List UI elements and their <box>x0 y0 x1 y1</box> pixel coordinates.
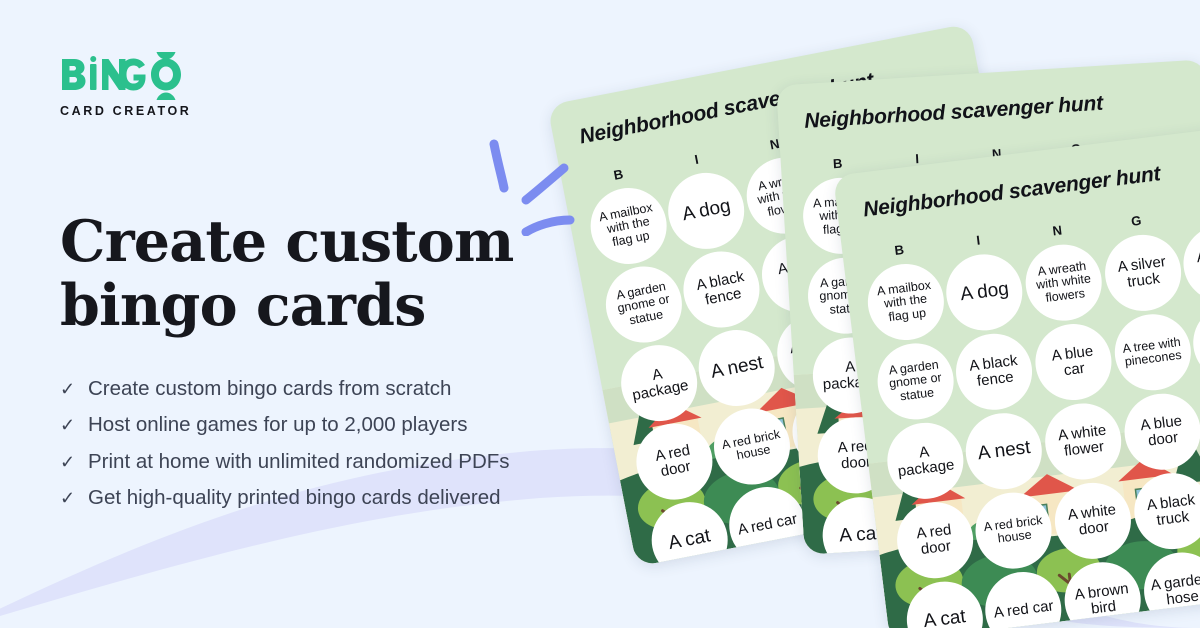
bingo-cell[interactable]: A tree with pinecones <box>1110 310 1195 395</box>
bingo-cell-label: A wreath with white flowers <box>1028 259 1098 307</box>
bingo-cell[interactable]: A red door <box>893 498 978 583</box>
bingo-cell[interactable]: A garden hose <box>1139 548 1200 628</box>
list-item: ✓ Print at home with unlimited randomize… <box>60 444 640 481</box>
bingo-cell-label: A blue car <box>1039 342 1108 382</box>
list-item-label: Get high-quality printed bingo cards del… <box>88 488 501 509</box>
feature-list: ✓ Create custom bingo cards from scratch… <box>60 371 640 517</box>
bingo-cell-label: A brown bird <box>1068 580 1137 620</box>
bingo-cell[interactable]: A cat <box>902 577 987 628</box>
bingo-card-front[interactable]: Neighborhood scavenger hunt BINGOA mailb… <box>833 124 1200 628</box>
bingo-cell-label: A garden hose <box>1147 570 1200 610</box>
column-header-o: O <box>1176 197 1200 226</box>
bingo-cell-label: A red door <box>900 520 969 560</box>
bingo-cell-label: A black fence <box>960 352 1029 392</box>
bingo-cell-label: A red door <box>639 439 710 483</box>
bingo-cell-label: A dog <box>959 279 1010 305</box>
hero-left-column: CARD CREATOR Create custom bingo cards ✓… <box>0 0 640 628</box>
bingo-cell[interactable]: A mailbox with the flag up <box>863 260 948 345</box>
bingo-cell-label: A silver truck <box>1108 253 1177 293</box>
bingo-cell-label: A dog <box>681 196 733 225</box>
bingo-cell-label: A tree with pinecones <box>1118 335 1187 370</box>
check-icon: ✓ <box>60 453 76 471</box>
bingo-cards-stack: Neighborhood scavenger hunt BINGOA mailb… <box>560 0 1200 628</box>
bingo-cell[interactable]: A red car <box>981 568 1066 628</box>
bingo-cell-label: A red brick house <box>980 513 1049 548</box>
list-item-label: Create custom bingo cards from scratch <box>88 379 451 400</box>
bingo-cell[interactable]: A red brick house <box>708 402 797 491</box>
bingo-cell-label: A mailbox with the flag up <box>870 278 940 326</box>
bingo-cell[interactable]: A nest <box>693 323 782 412</box>
bingo-cell[interactable]: A brown bird <box>1060 558 1145 628</box>
bingo-cell-label: A nest <box>977 438 1032 465</box>
bingo-cell-label: A black fence <box>686 267 757 311</box>
bingo-cell-label: A cat <box>667 526 712 554</box>
column-header-n: N <box>1018 216 1097 245</box>
column-header-b: B <box>860 236 939 265</box>
bingo-cell-label: A package <box>890 441 959 481</box>
card-title: Neighborhood scavenger hunt <box>804 86 1195 134</box>
bingo-cell[interactable]: A black truck <box>1130 469 1200 554</box>
bingo-cell[interactable]: A package <box>883 418 968 503</box>
bingo-cell-label: A red brick house <box>717 427 787 466</box>
list-item-label: Print at home with unlimited randomized … <box>88 452 510 473</box>
bingo-cell[interactable]: A silver truck <box>1100 231 1185 316</box>
bingo-cell-label: A white car <box>1187 243 1200 283</box>
check-icon: ✓ <box>60 489 76 507</box>
check-icon: ✓ <box>60 380 76 398</box>
sparkle-icon <box>478 136 598 236</box>
bingo-cell[interactable]: A red door <box>630 417 719 506</box>
bingo-cell[interactable]: A garden gnome or statue <box>873 339 958 424</box>
bingo-cell-label: A cat <box>922 607 966 628</box>
list-item: ✓ Host online games for up to 2,000 play… <box>60 407 640 444</box>
bingo-cell[interactable]: A white car <box>1179 221 1200 306</box>
column-header-i: I <box>939 226 1018 255</box>
bingo-cell-label: A red car <box>993 598 1055 621</box>
headline-line-2: bingo cards <box>60 274 580 338</box>
bingo-cell[interactable]: A flag <box>1189 300 1200 385</box>
logo-wordmark-bingo <box>60 52 190 100</box>
bingo-card: Neighborhood scavenger hunt BINGOA mailb… <box>833 124 1200 628</box>
bingo-cell[interactable]: A wreath with white flowers <box>1021 240 1106 325</box>
check-icon: ✓ <box>60 416 76 434</box>
list-item: ✓ Get high-quality printed bingo cards d… <box>60 480 640 517</box>
bingo-cell[interactable]: A black fence <box>952 329 1037 414</box>
bingo-cell-label: A garden gnome or statue <box>880 357 950 405</box>
bingo-cell[interactable]: A blue door <box>1120 389 1200 474</box>
bingo-cell-label: A red car <box>737 511 799 538</box>
list-item-label: Host online games for up to 2,000 player… <box>88 415 467 436</box>
bingo-cell[interactable]: A blue car <box>1031 320 1116 405</box>
bingo-cell[interactable]: A dog <box>942 250 1027 335</box>
bingo-cell[interactable]: A cat <box>645 496 734 567</box>
bingo-cell[interactable]: A black fence <box>677 245 766 334</box>
list-item: ✓ Create custom bingo cards from scratch <box>60 371 640 408</box>
bingo-cell[interactable]: A white flower <box>1041 399 1126 484</box>
column-header-g: G <box>1097 207 1176 236</box>
logo[interactable]: CARD CREATOR <box>60 52 240 132</box>
bingo-cell-label: A white flower <box>1048 421 1117 461</box>
bingo-grid: BINGOA mailbox with the flag upA dogA wr… <box>860 197 1200 628</box>
bingo-cell-label: A nest <box>709 353 765 383</box>
bingo-cell[interactable]: A dog <box>662 166 751 255</box>
bingo-cell-label: A white door <box>1058 501 1127 541</box>
bingo-cell-label: A black truck <box>1137 491 1200 531</box>
column-header-i: I <box>657 143 737 177</box>
bingo-cell-label: A blue door <box>1127 412 1196 452</box>
bingo-cell[interactable]: A white door <box>1051 478 1136 563</box>
bingo-cell[interactable]: A red brick house <box>972 488 1057 573</box>
bingo-cell[interactable]: A nest <box>962 409 1047 494</box>
logo-subtitle: CARD CREATOR <box>60 104 240 118</box>
bingo-cell[interactable]: A red car <box>723 480 812 566</box>
